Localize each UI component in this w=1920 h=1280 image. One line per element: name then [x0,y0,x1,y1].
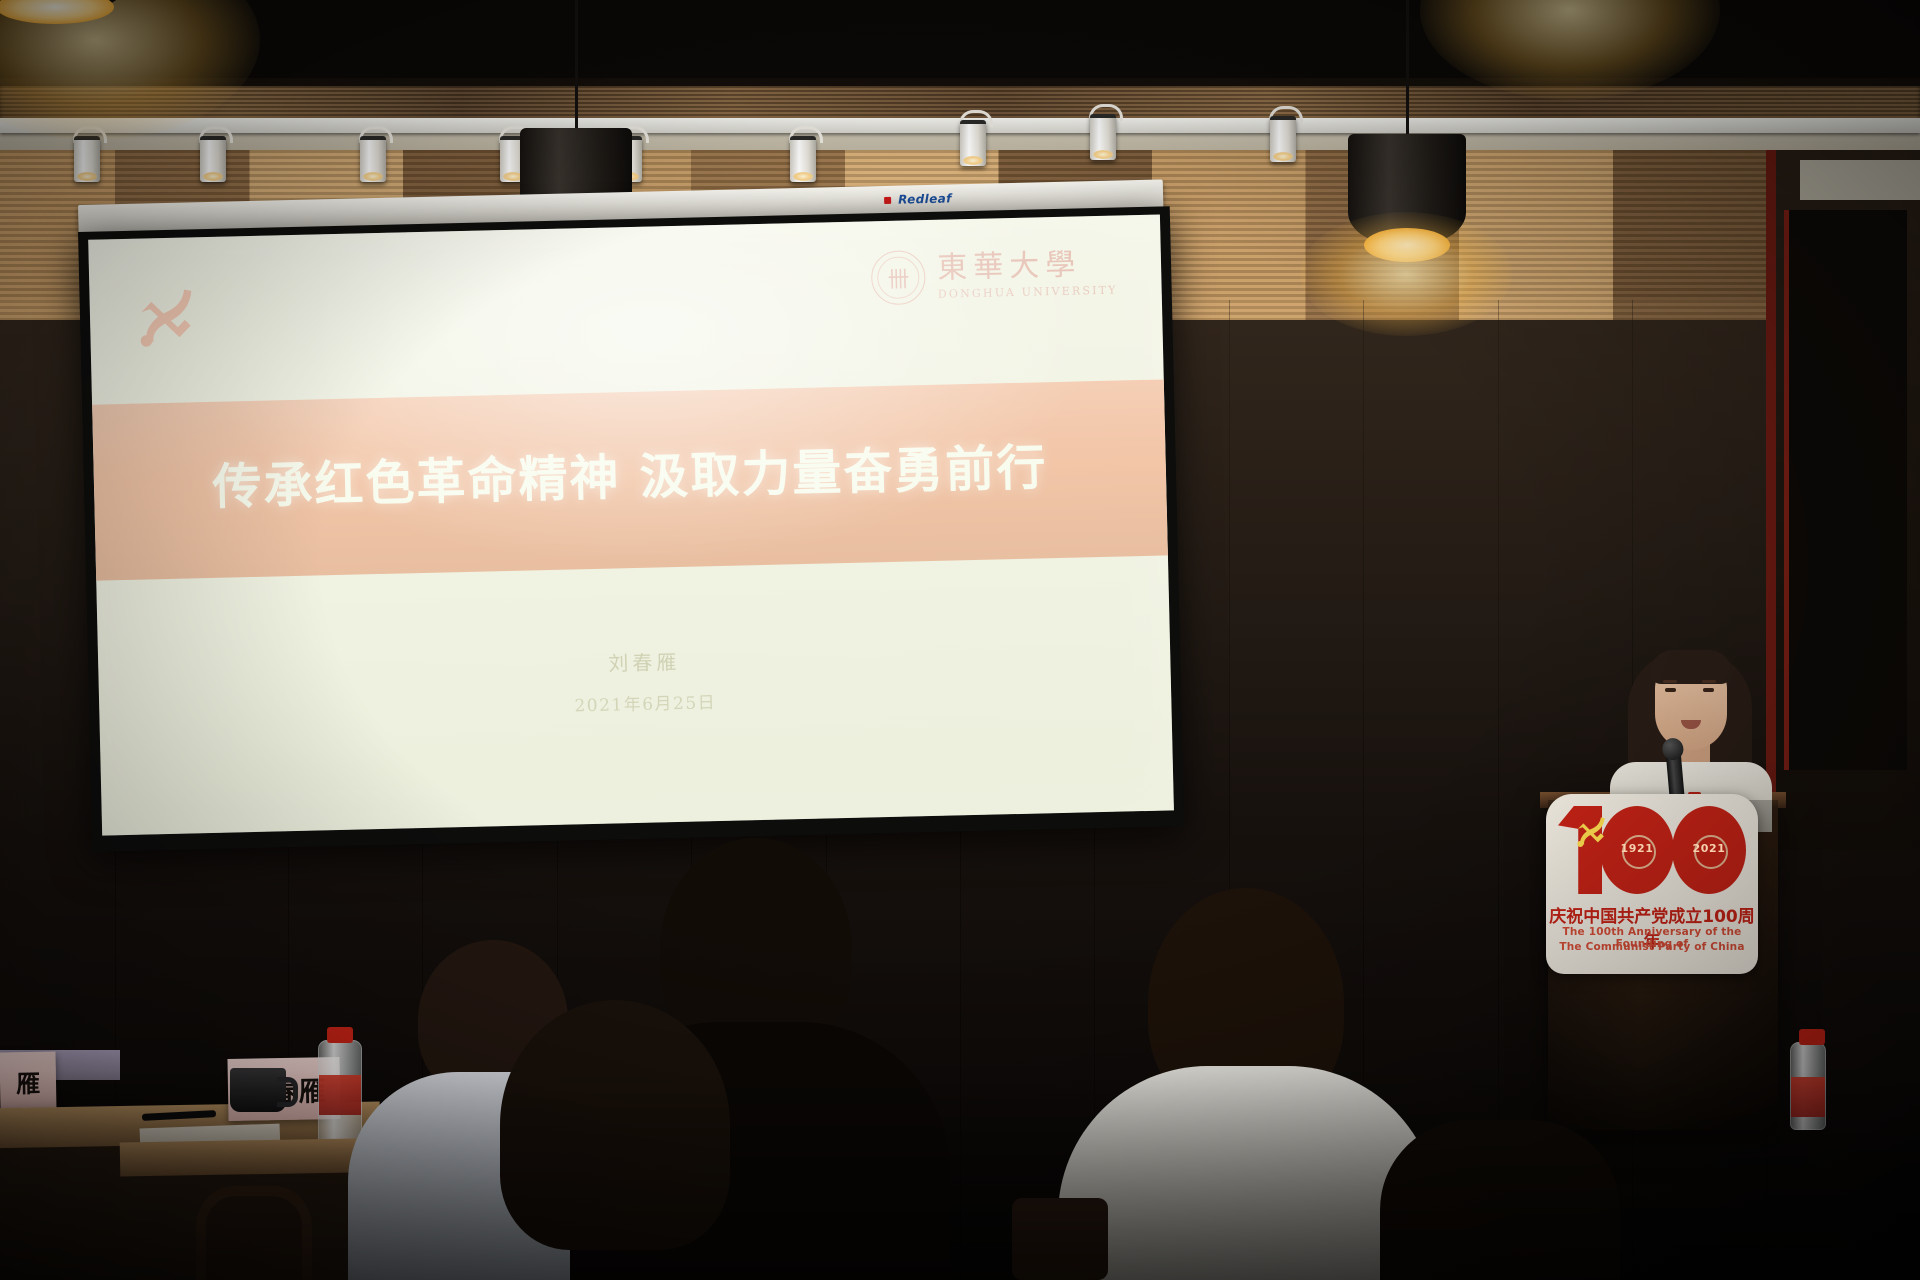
track-spotlight-icon [198,128,228,178]
anniversary-numeral: 1921 2021 [1556,802,1748,898]
university-name-cn: 東華大學 [937,250,1117,284]
track-spotlight-icon [788,128,818,178]
water-bottle [318,1040,362,1148]
speaker-fringe [1650,650,1732,684]
university-seal-icon: 卌 [871,250,926,305]
track-spotlight-icon [72,128,102,178]
ceiling [0,0,1920,96]
anniversary-year-end: 2021 [1672,842,1746,855]
hammer-and-sickle-icon [129,279,203,353]
coffee-mug [230,1068,286,1112]
pendant-lamp-icon [1348,0,1466,290]
university-logo: 卌 東華大學 DONGHUA UNIVERSITY [871,246,1118,306]
slide-date: 2021年6月25日 [119,677,1171,727]
speaker-brow [1663,680,1677,683]
audience-head [500,1000,730,1250]
pendant-lamp-icon [0,0,140,50]
slide-byline: 刘春雁 2021年6月25日 [98,634,1171,727]
audience-torso [1380,1120,1620,1280]
ceiling-dark-void [0,0,1920,78]
brand-dot-icon [884,197,891,204]
right-wall-panel [1800,160,1920,200]
speaker-eye [1703,688,1714,692]
anniversary-slogan-en-line2: The Communist Party of China [1546,941,1758,953]
track-spotlight-icon [358,128,388,178]
speaker-brow [1702,680,1716,683]
right-doorway [1766,150,1920,850]
university-name-en: DONGHUA UNIVERSITY [938,285,1118,300]
anniversary-year-start: 1921 [1600,842,1674,855]
track-spotlight-icon [958,112,988,162]
name-card: 雁 [0,1052,57,1111]
cpc-100th-anniversary-emblem: 1921 2021 庆祝中国共产党成立100周年 The 100th Anniv… [1546,794,1758,974]
seal-glyph: 卌 [872,251,925,304]
projection-screen: 卌 東華大學 DONGHUA UNIVERSITY 传承红色革命精神 汲取力量奋… [78,206,1184,852]
track-spotlight-icon [1088,106,1118,156]
presentation-slide: 卌 東華大學 DONGHUA UNIVERSITY 传承红色革命精神 汲取力量奋… [88,215,1174,836]
speaker-eye [1665,688,1676,692]
hammer-and-sickle-icon [1572,812,1610,846]
water-bottle [1790,1042,1826,1130]
screen-brand-label: Redleaf [898,191,952,206]
speaker-person [1600,640,1780,815]
chair [1012,1198,1108,1280]
track-spotlight-icon [1268,108,1298,158]
chair [196,1186,312,1280]
presentation-room-photo: Redleaf 卌 東華大學 DONGHUA UNIVER [0,0,1920,1280]
